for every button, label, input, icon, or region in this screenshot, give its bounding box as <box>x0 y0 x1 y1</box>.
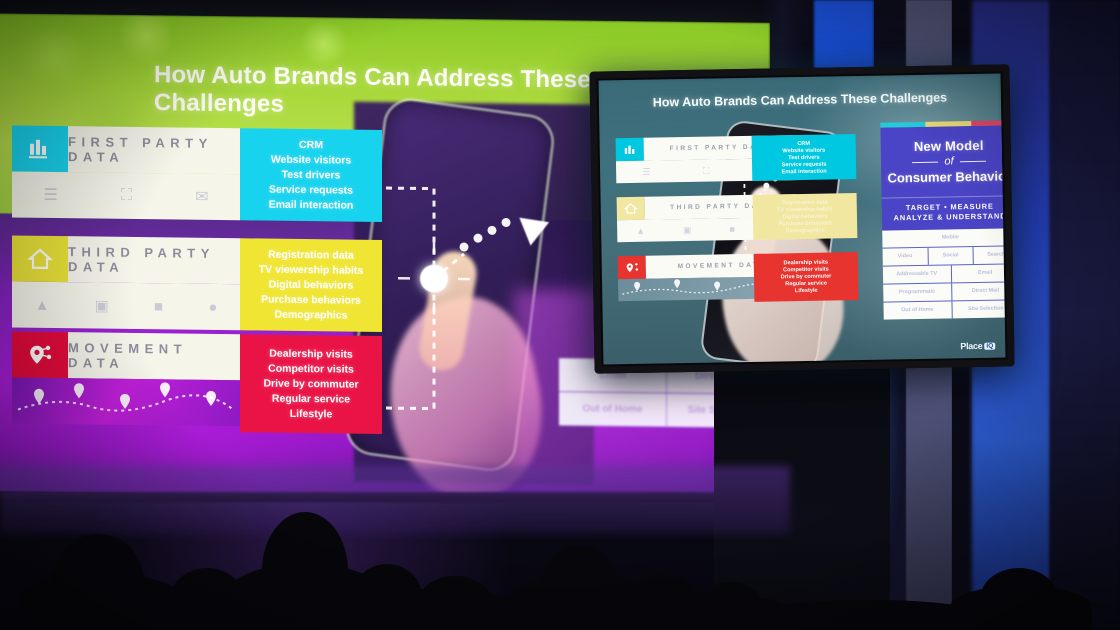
tv-list-first-party: CRM Website visitors Test drivers Servic… <box>752 134 857 181</box>
new-model-title-line2: Consumer Behavior <box>887 168 1005 185</box>
projection-block-third-party: THIRD PARTY DATA ▲ ▣ ■ ● <box>12 235 240 330</box>
audience-shoulders <box>760 600 980 630</box>
table-row: Programmatic Direct Mail <box>883 282 1005 302</box>
new-model-connector: of <box>887 154 1006 168</box>
projection-label-first-party: FIRST PARTY DATA <box>68 126 240 174</box>
house-icon <box>617 197 645 220</box>
table-row: Video Social Search <box>883 246 1006 266</box>
projection-block-movement: MOVEMENT DATA <box>12 331 240 426</box>
location-pin-icon <box>618 256 646 279</box>
tv-monitor: How Auto Brands Can Address These Challe… <box>589 64 1014 373</box>
tv-list-movement: Dealership visits Competitor visits Driv… <box>754 252 859 302</box>
projection-list-first-party: CRM Website visitors Test drivers Servic… <box>240 128 382 222</box>
projection-label-movement: MOVEMENT DATA <box>68 332 240 380</box>
new-model-title-line1: New Model <box>887 137 1006 154</box>
tv-placeiq-logo: Place IQ <box>960 341 995 352</box>
purple-wall-wash <box>0 466 790 534</box>
bar-chart-icon <box>616 138 644 161</box>
projection-map-strip <box>12 377 240 426</box>
stripe-yellow <box>926 121 971 127</box>
projection-label-third-party: THIRD PARTY DATA <box>68 236 240 284</box>
slide-hub-node <box>420 264 448 292</box>
stripe-pink <box>971 120 1005 126</box>
new-model-panel: New Model of Consumer Behavior TARGET • … <box>880 120 1005 338</box>
table-row: Mobile <box>882 228 1005 248</box>
rule-right <box>960 160 986 161</box>
house-icon <box>12 235 68 282</box>
conference-scene: How Auto Brands Can Address These Challe… <box>0 0 1120 630</box>
table-row: Addressable TV Email <box>883 264 1006 284</box>
new-model-header: New Model of Consumer Behavior <box>880 125 1005 197</box>
stripe-cyan <box>880 122 925 128</box>
table-row: Out of Home Site Selection <box>883 300 1005 319</box>
audience-silhouettes <box>0 480 1120 630</box>
new-model-grid: Mobile Video Social Search Addressable T… <box>882 228 1005 319</box>
audience-shoulders <box>392 592 524 630</box>
tv-screen: How Auto Brands Can Address These Challe… <box>599 74 1006 365</box>
projection-icons-first-party: ☰ ⛶ ✉ <box>12 171 240 220</box>
new-model-subtitle: TARGET • MEASURE ANALYZE & UNDERSTAND <box>882 195 1006 230</box>
projection-icons-third-party: ▲ ▣ ■ ● <box>12 281 240 330</box>
projection-block-first-party: FIRST PARTY DATA ☰ ⛶ ✉ <box>12 125 240 220</box>
rule-left <box>912 161 938 162</box>
location-pin-icon <box>12 331 68 378</box>
projection-list-movement: Dealership visits Competitor visits Driv… <box>240 334 382 434</box>
bar-chart-icon <box>12 125 68 172</box>
projection-list-third-party: Registration data TV viewership habits D… <box>240 238 382 332</box>
tv-list-third-party: Registration data TV viewership habits D… <box>753 193 858 240</box>
